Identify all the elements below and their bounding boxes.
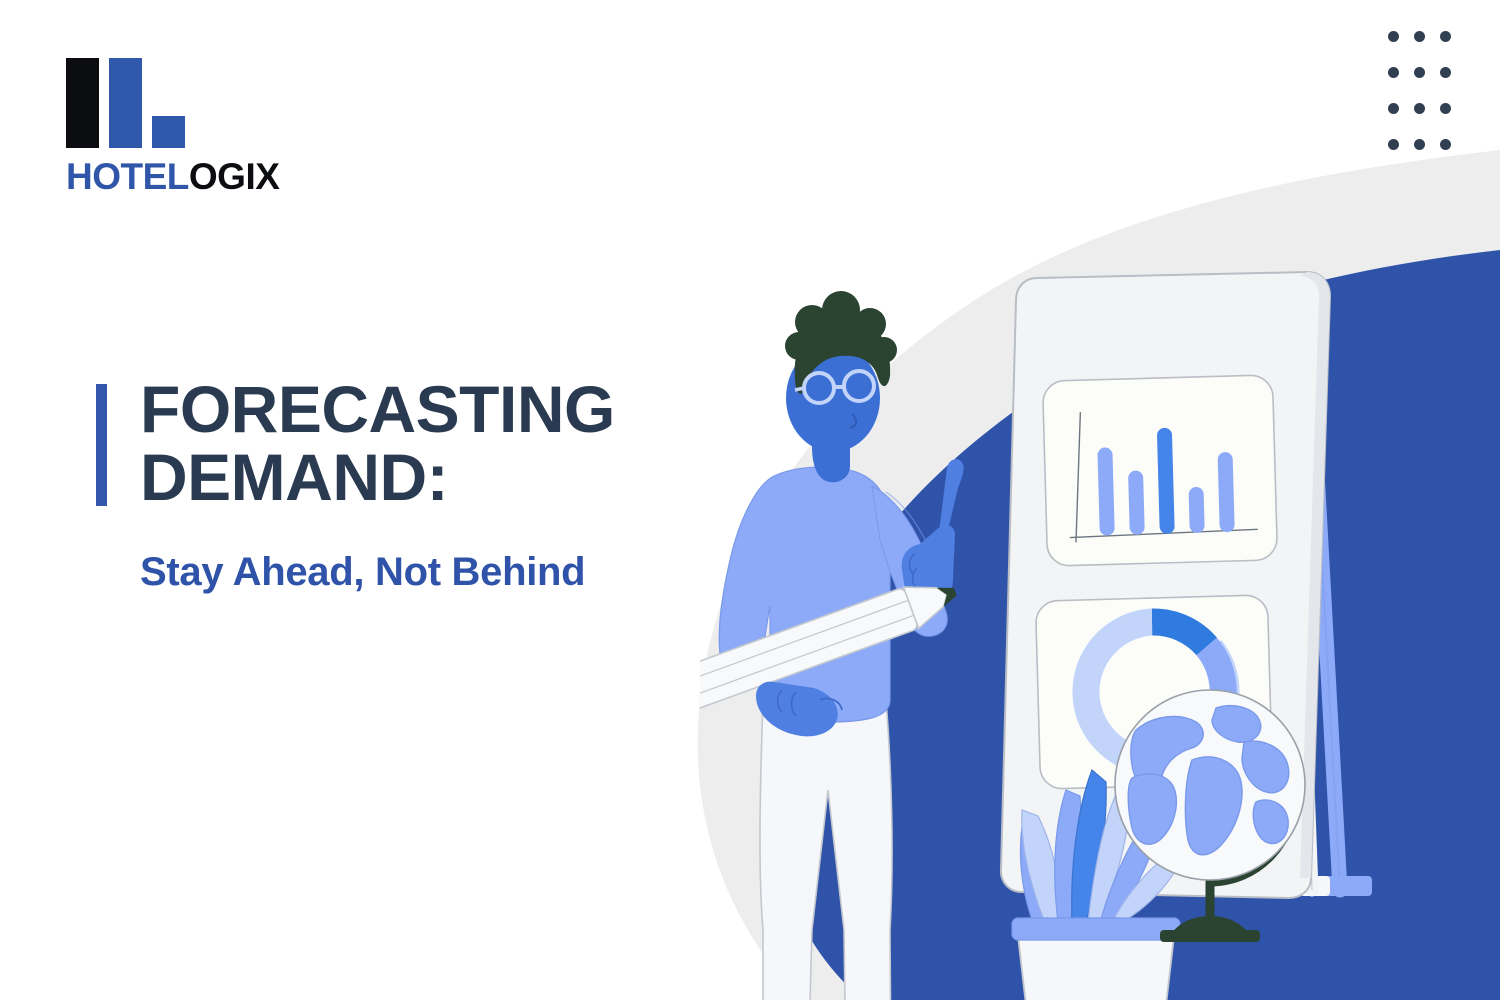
grid-dot — [1388, 139, 1399, 150]
grid-dot — [1440, 31, 1451, 42]
logo-wordmark: HOTELOGIX — [66, 158, 326, 195]
grid-dot — [1414, 139, 1425, 150]
grid-dot — [1388, 31, 1399, 42]
page-title: FORECASTING DEMAND: — [96, 376, 756, 512]
dot-grid-icon — [1380, 18, 1458, 162]
headline-block: FORECASTING DEMAND: Stay Ahead, Not Behi… — [96, 376, 756, 595]
grid-dot — [1440, 67, 1451, 78]
logo-bar-short-blue — [152, 116, 185, 148]
accent-bar — [96, 384, 107, 506]
grid-dot — [1414, 31, 1425, 42]
grid-dot — [1414, 67, 1425, 78]
logo-mark-icon — [66, 58, 216, 148]
brand-logo[interactable]: HOTELOGIX — [66, 58, 326, 198]
logo-wordmark-hotel: HOTEL — [66, 156, 189, 197]
grid-dot — [1440, 103, 1451, 114]
bar-chart-card — [1042, 375, 1277, 566]
analytics-illustration — [700, 230, 1500, 1000]
grid-dot — [1388, 103, 1399, 114]
logo-bar-tall-blue — [109, 58, 142, 148]
grid-dot — [1414, 103, 1425, 114]
grid-dot — [1388, 67, 1399, 78]
grid-dot — [1440, 139, 1451, 150]
page-subtitle: Stay Ahead, Not Behind — [96, 512, 756, 595]
banner-canvas: HOTELOGIX FORECASTING DEMAND: Stay Ahead… — [0, 0, 1500, 1000]
logo-bar-tall-dark — [66, 58, 99, 148]
logo-wordmark-ogix: OGIX — [189, 156, 280, 197]
